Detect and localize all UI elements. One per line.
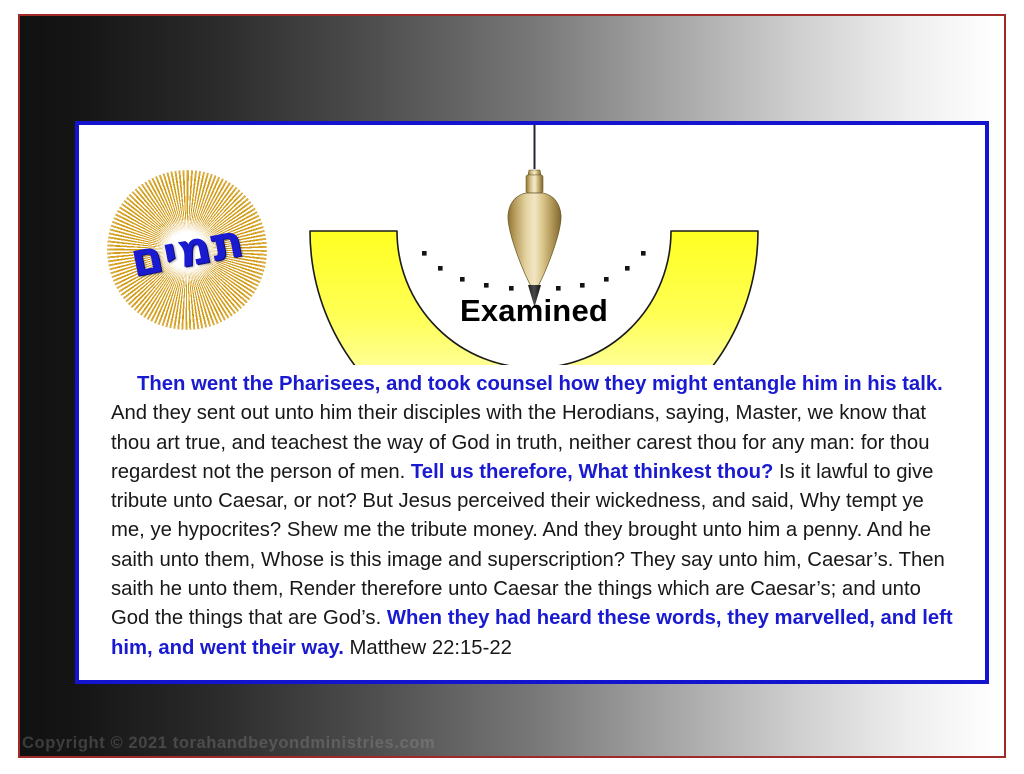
slide-canvas: תמים bbox=[0, 0, 1024, 774]
plumb-bob-svg bbox=[304, 125, 764, 365]
scripture-passage: Then went the Pharisees, and took counse… bbox=[111, 370, 961, 663]
tamim-logo: תמים bbox=[107, 170, 267, 330]
logo-hebrew-text: תמים bbox=[93, 156, 281, 344]
scripture-reference: Matthew 22:15-22 bbox=[344, 637, 512, 659]
plumb-bob-body bbox=[508, 170, 561, 307]
scripture-body-2: Is it lawful to give tribute unto Caesar… bbox=[111, 461, 945, 629]
copyright-watermark: Copyright © 2021 torahandbeyondministrie… bbox=[22, 734, 435, 753]
plumb-bob-graphic bbox=[304, 125, 764, 365]
scripture-highlight-1: Then went the Pharisees, and took counse… bbox=[137, 373, 943, 395]
content-card: תמים bbox=[75, 121, 989, 684]
slide-outer-frame: תמים bbox=[18, 14, 1006, 758]
scripture-highlight-2: Tell us therefore, What thinkest thou? bbox=[411, 461, 773, 483]
